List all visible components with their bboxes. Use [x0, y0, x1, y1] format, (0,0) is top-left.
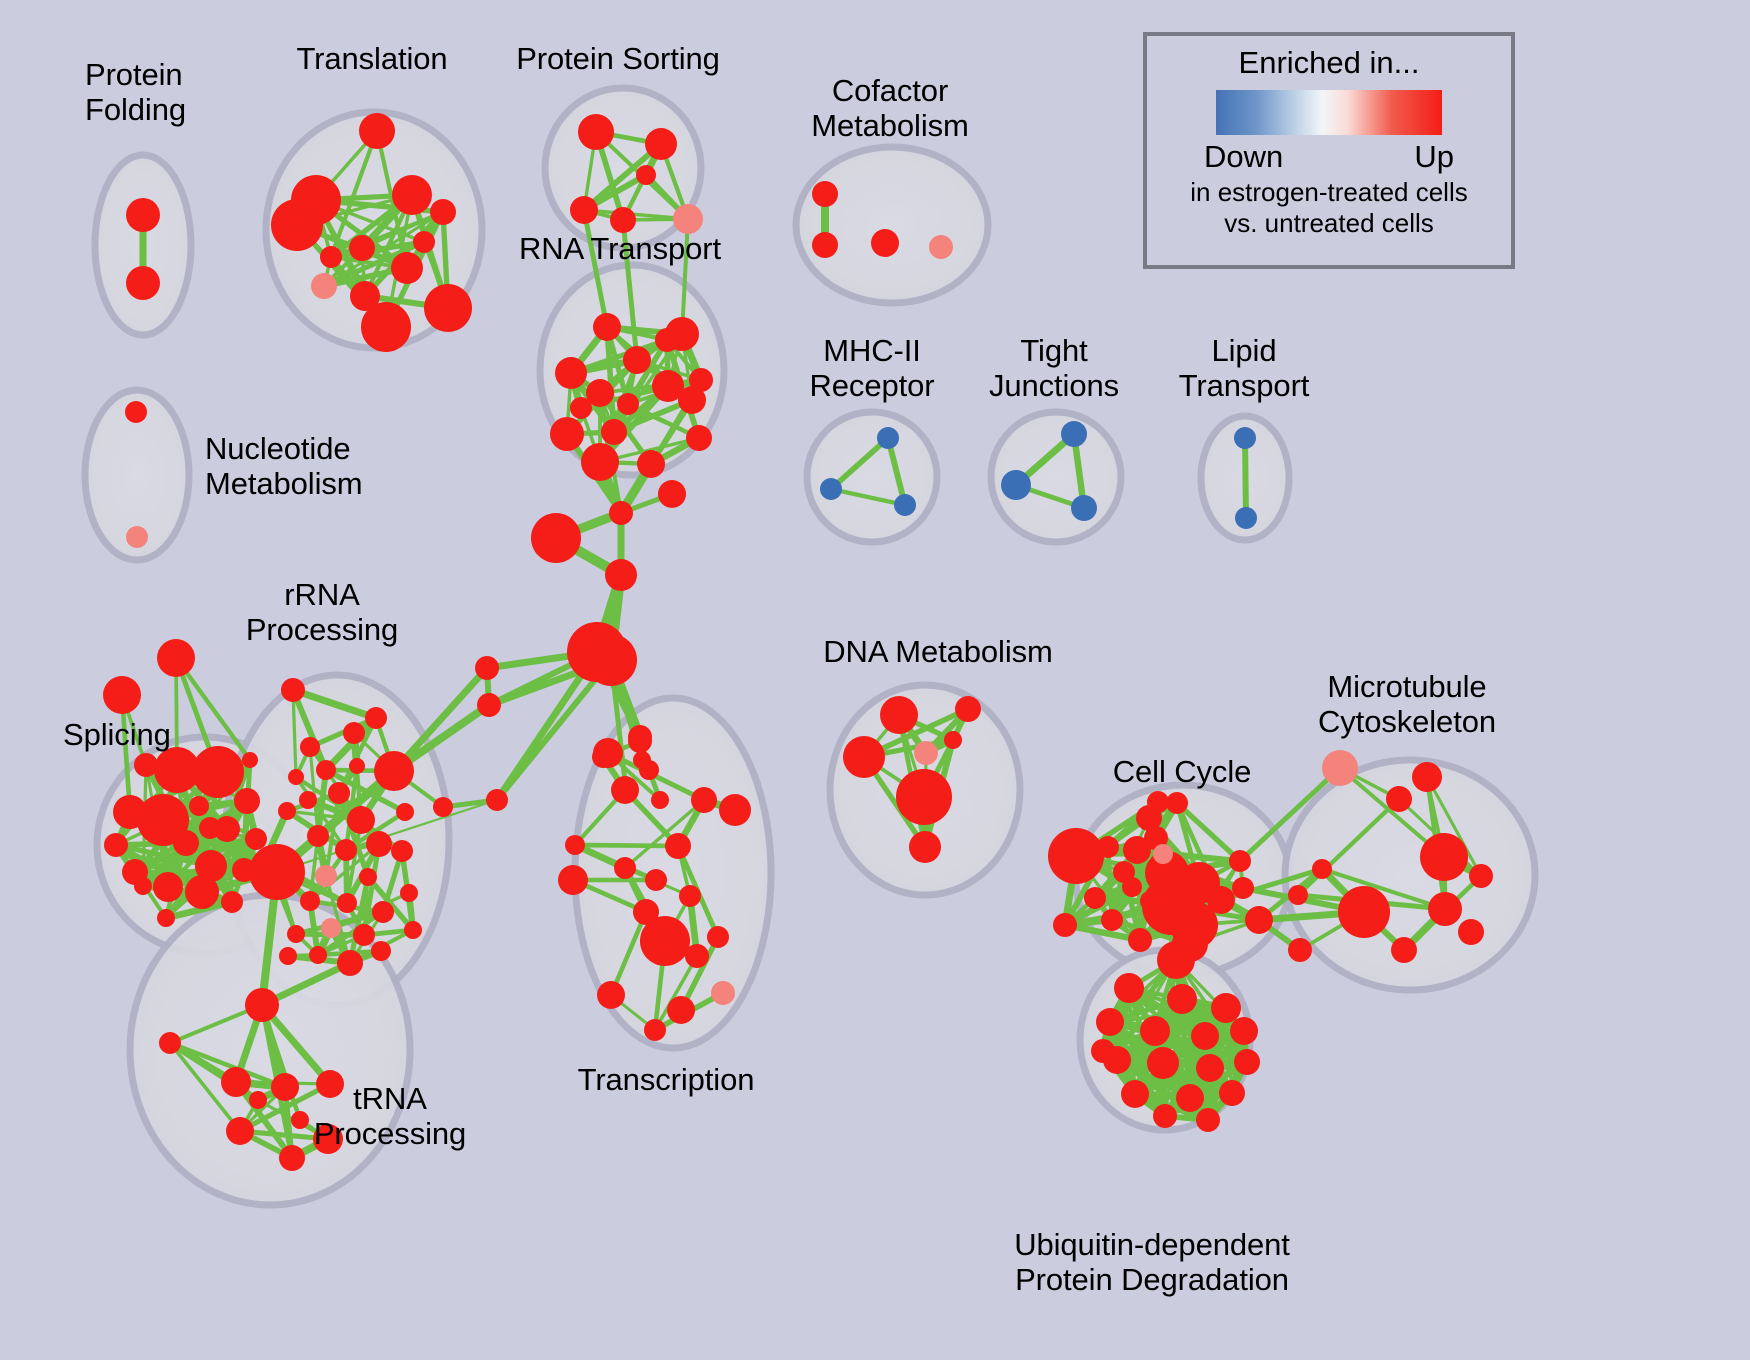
network-node[interactable] — [1121, 1080, 1149, 1108]
network-node[interactable] — [374, 751, 414, 791]
network-node[interactable] — [610, 207, 636, 233]
network-node[interactable] — [601, 419, 627, 445]
network-node[interactable] — [843, 736, 885, 778]
network-node[interactable] — [605, 559, 637, 591]
network-node[interactable] — [391, 840, 413, 862]
network-node[interactable] — [1420, 833, 1468, 881]
network-node[interactable] — [157, 639, 195, 677]
network-node[interactable] — [291, 1111, 309, 1129]
network-node[interactable] — [316, 760, 336, 780]
network-node[interactable] — [611, 776, 639, 804]
network-node[interactable] — [1234, 1049, 1260, 1075]
network-node[interactable] — [400, 884, 418, 902]
network-node[interactable] — [1147, 791, 1169, 813]
network-node[interactable] — [359, 113, 395, 149]
network-node[interactable] — [281, 678, 305, 702]
network-node[interactable] — [134, 877, 152, 895]
network-node[interactable] — [159, 1032, 181, 1054]
network-node[interactable] — [337, 893, 357, 913]
network-node[interactable] — [1097, 836, 1119, 858]
network-node[interactable] — [1114, 973, 1144, 1003]
cluster-label-rna-transport: RNA Transport — [519, 232, 721, 267]
legend-subtitle-line-1: in estrogen-treated cells — [1190, 177, 1467, 208]
network-node[interactable] — [820, 478, 842, 500]
network-node[interactable] — [1053, 913, 1077, 937]
network-node[interactable] — [1312, 859, 1332, 879]
network-node[interactable] — [1458, 919, 1484, 945]
network-node[interactable] — [871, 229, 899, 257]
network-node[interactable] — [335, 839, 357, 861]
network-node[interactable] — [278, 802, 296, 820]
network-node[interactable] — [1322, 750, 1358, 786]
network-node[interactable] — [392, 175, 432, 215]
network-node[interactable] — [1428, 892, 1462, 926]
network-node[interactable] — [812, 181, 838, 207]
network-node[interactable] — [349, 235, 375, 261]
network-node[interactable] — [665, 833, 691, 859]
network-edge — [575, 845, 678, 846]
network-node[interactable] — [581, 443, 619, 481]
network-node[interactable] — [226, 1117, 254, 1145]
network-node[interactable] — [707, 926, 729, 948]
network-node[interactable] — [1245, 906, 1273, 934]
network-node[interactable] — [1288, 885, 1308, 905]
network-node[interactable] — [1048, 828, 1104, 884]
network-node[interactable] — [691, 787, 717, 813]
network-node[interactable] — [404, 921, 422, 939]
network-node[interactable] — [1234, 427, 1256, 449]
network-node[interactable] — [585, 634, 637, 686]
network-node[interactable] — [645, 869, 667, 891]
cluster-label-nucleotide-metabolism: Nucleotide Metabolism — [205, 432, 363, 501]
network-node[interactable] — [1230, 1017, 1258, 1045]
network-node[interactable] — [1101, 909, 1123, 931]
cluster-label-ubiquitin-degradation: Ubiquitin-dependent Protein Degradation — [1014, 1228, 1290, 1297]
network-node[interactable] — [673, 204, 703, 234]
cluster-label-tight-junctions: Tight Junctions — [989, 334, 1119, 403]
network-node[interactable] — [433, 797, 453, 817]
network-node[interactable] — [636, 165, 656, 185]
network-node[interactable] — [234, 788, 260, 814]
network-node[interactable] — [189, 796, 209, 816]
network-node[interactable] — [1196, 1108, 1220, 1132]
cluster-ellipse-mhc-ii-receptor — [807, 412, 937, 542]
network-node[interactable] — [221, 891, 243, 913]
network-node[interactable] — [894, 494, 916, 516]
network-node[interactable] — [609, 501, 633, 525]
network-node[interactable] — [628, 729, 652, 753]
network-node[interactable] — [343, 722, 365, 744]
cluster-label-cofactor-metabolism: Cofactor Metabolism — [811, 74, 969, 143]
network-node[interactable] — [315, 865, 337, 887]
network-node[interactable] — [914, 741, 938, 765]
network-node[interactable] — [221, 1067, 251, 1097]
network-node[interactable] — [1176, 1084, 1204, 1112]
network-node[interactable] — [365, 707, 387, 729]
network-node[interactable] — [1288, 938, 1312, 962]
network-node[interactable] — [1140, 891, 1160, 911]
network-node[interactable] — [578, 114, 614, 150]
network-edge — [1245, 438, 1246, 518]
network-node[interactable] — [658, 480, 686, 508]
network-node[interactable] — [1229, 850, 1251, 872]
cluster-label-protein-sorting: Protein Sorting — [516, 42, 720, 77]
network-node[interactable] — [199, 817, 221, 839]
network-node[interactable] — [1166, 792, 1188, 814]
network-node[interactable] — [126, 266, 160, 300]
cluster-label-cell-cycle: Cell Cycle — [1113, 755, 1252, 790]
legend-color-gradient-bar — [1216, 90, 1442, 135]
network-node[interactable] — [1338, 886, 1390, 938]
network-node[interactable] — [279, 947, 297, 965]
network-node[interactable] — [655, 328, 679, 352]
network-node[interactable] — [597, 981, 625, 1009]
network-node[interactable] — [309, 946, 327, 964]
network-node[interactable] — [1191, 1022, 1219, 1050]
network-node[interactable] — [896, 769, 952, 825]
cluster-label-trna-processing: tRNA Processing — [314, 1082, 466, 1151]
network-node[interactable] — [555, 357, 587, 389]
network-node[interactable] — [153, 872, 183, 902]
network-node[interactable] — [644, 1019, 666, 1041]
network-node[interactable] — [477, 693, 501, 717]
network-node[interactable] — [173, 830, 199, 856]
network-node[interactable] — [640, 916, 690, 966]
network-node[interactable] — [424, 284, 472, 332]
network-node[interactable] — [371, 941, 391, 961]
network-node[interactable] — [372, 901, 394, 923]
network-node[interactable] — [880, 696, 918, 734]
network-node[interactable] — [617, 393, 639, 415]
network-node[interactable] — [1128, 928, 1152, 952]
network-node[interactable] — [1235, 507, 1257, 529]
network-node[interactable] — [185, 875, 219, 909]
network-node[interactable] — [299, 791, 317, 809]
network-node[interactable] — [1096, 1008, 1124, 1036]
network-node[interactable] — [531, 513, 581, 563]
network-node[interactable] — [645, 128, 677, 160]
network-node[interactable] — [592, 746, 614, 768]
network-node[interactable] — [134, 753, 158, 777]
network-node[interactable] — [955, 696, 981, 722]
network-node[interactable] — [1157, 941, 1195, 979]
network-node[interactable] — [1469, 864, 1493, 888]
network-node[interactable] — [593, 313, 621, 341]
network-node[interactable] — [1084, 887, 1106, 909]
network-node[interactable] — [812, 232, 838, 258]
network-node[interactable] — [1391, 937, 1417, 963]
network-node[interactable] — [1207, 886, 1235, 914]
network-node[interactable] — [1196, 1054, 1224, 1082]
legend-endpoint-labels: Down Up — [1204, 139, 1454, 175]
network-node[interactable] — [396, 803, 414, 821]
network-node[interactable] — [271, 199, 323, 251]
network-node[interactable] — [413, 231, 435, 253]
network-node[interactable] — [475, 656, 499, 680]
network-node[interactable] — [300, 891, 320, 911]
network-node[interactable] — [126, 526, 148, 548]
network-node[interactable] — [103, 676, 141, 714]
network-node[interactable] — [104, 833, 128, 857]
network-node[interactable] — [391, 252, 423, 284]
network-node[interactable] — [686, 425, 712, 451]
network-node[interactable] — [909, 831, 941, 863]
cluster-label-rrna-processing: rRNA Processing — [246, 578, 398, 647]
network-node[interactable] — [249, 1091, 267, 1109]
network-node[interactable] — [300, 737, 320, 757]
network-node[interactable] — [877, 427, 899, 449]
network-node[interactable] — [711, 981, 735, 1005]
network-node[interactable] — [242, 752, 258, 768]
network-node[interactable] — [719, 794, 751, 826]
network-node[interactable] — [245, 828, 267, 850]
cluster-label-translation: Translation — [296, 42, 447, 77]
network-node[interactable] — [366, 831, 392, 857]
network-node[interactable] — [307, 825, 329, 847]
cluster-label-protein-folding: Protein Folding — [85, 58, 186, 127]
network-node[interactable] — [347, 806, 375, 834]
network-node[interactable] — [651, 791, 669, 809]
network-node[interactable] — [192, 746, 244, 798]
network-node[interactable] — [1232, 877, 1254, 899]
network-node[interactable] — [1147, 1047, 1179, 1079]
network-node[interactable] — [321, 918, 341, 938]
network-node[interactable] — [1153, 1104, 1177, 1128]
network-node[interactable] — [1167, 984, 1197, 1014]
network-node[interactable] — [256, 848, 276, 868]
network-node[interactable] — [565, 835, 585, 855]
network-node[interactable] — [570, 397, 592, 419]
network-node[interactable] — [1091, 1039, 1115, 1063]
network-node[interactable] — [359, 868, 377, 886]
cluster-label-transcription: Transcription — [578, 1063, 755, 1098]
network-node[interactable] — [679, 885, 701, 907]
network-node[interactable] — [1061, 421, 1087, 447]
network-node[interactable] — [689, 368, 713, 392]
network-node[interactable] — [320, 246, 342, 268]
network-node[interactable] — [1219, 1080, 1245, 1106]
network-node[interactable] — [633, 751, 651, 769]
network-node[interactable] — [486, 789, 508, 811]
network-node[interactable] — [349, 758, 365, 774]
network-node[interactable] — [157, 909, 175, 927]
network-node[interactable] — [929, 235, 953, 259]
network-node[interactable] — [637, 450, 665, 478]
legend-low-label: Down — [1204, 139, 1283, 175]
network-node[interactable] — [1122, 877, 1142, 897]
network-node[interactable] — [361, 302, 411, 352]
legend-subtitle-line-2: vs. untreated cells — [1224, 208, 1434, 239]
network-node[interactable] — [311, 273, 337, 299]
legend-high-label: Up — [1414, 139, 1454, 175]
network-node[interactable] — [245, 988, 279, 1022]
network-node[interactable] — [570, 196, 598, 224]
network-node[interactable] — [623, 346, 651, 374]
network-node[interactable] — [337, 950, 363, 976]
legend-box: Enriched in... Down Up in estrogen-treat… — [1143, 32, 1515, 269]
network-node[interactable] — [279, 1145, 305, 1171]
network-node[interactable] — [944, 731, 962, 749]
cluster-label-mhc-ii-receptor: MHC-II Receptor — [810, 334, 935, 403]
network-node[interactable] — [1001, 470, 1031, 500]
network-node[interactable] — [430, 199, 456, 225]
network-node[interactable] — [287, 925, 305, 943]
cluster-label-microtubule-cytoskeleton: Microtubule Cytoskeleton — [1318, 670, 1496, 739]
network-node[interactable] — [558, 865, 588, 895]
network-node[interactable] — [288, 769, 304, 785]
network-node[interactable] — [328, 782, 350, 804]
cluster-label-lipid-transport: Lipid Transport — [1179, 334, 1310, 403]
network-node[interactable] — [1412, 762, 1442, 792]
network-node[interactable] — [1153, 844, 1173, 864]
network-node[interactable] — [353, 924, 375, 946]
network-node[interactable] — [550, 417, 584, 451]
network-node[interactable] — [271, 1073, 299, 1101]
network-node[interactable] — [614, 857, 636, 879]
enrichment-map-figure: Protein FoldingTranslationProtein Sortin… — [0, 0, 1750, 1360]
network-node[interactable] — [685, 944, 709, 968]
network-node[interactable] — [1386, 786, 1412, 812]
network-node[interactable] — [249, 844, 305, 900]
cluster-label-splicing: Splicing — [63, 718, 171, 753]
network-node[interactable] — [125, 401, 147, 423]
network-node[interactable] — [1140, 1016, 1170, 1046]
network-node[interactable] — [1211, 993, 1241, 1023]
network-node[interactable] — [1071, 495, 1097, 521]
cluster-label-dna-metabolism: DNA Metabolism — [823, 635, 1052, 670]
network-node[interactable] — [667, 996, 695, 1024]
legend-title: Enriched in... — [1239, 45, 1420, 81]
network-node[interactable] — [126, 198, 160, 232]
